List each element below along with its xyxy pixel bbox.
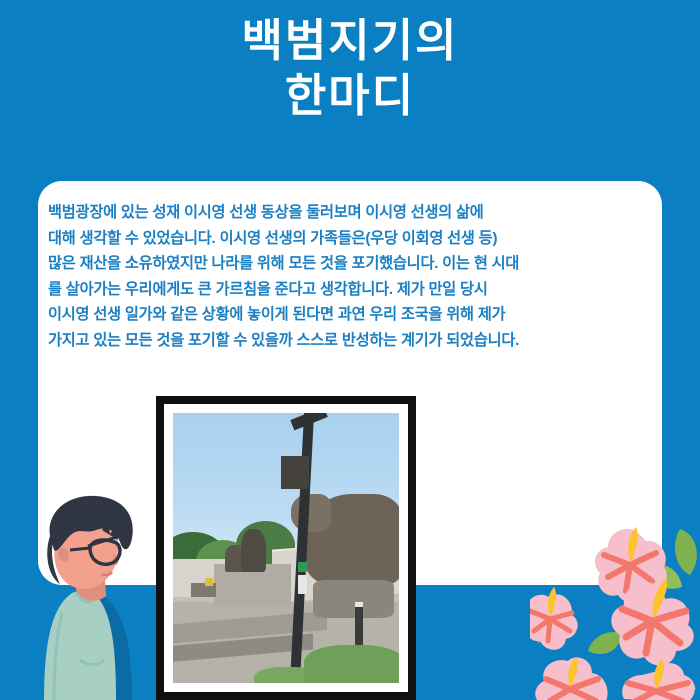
statue-photograph — [173, 413, 399, 683]
flower-blossom — [530, 587, 578, 650]
page-title: 백범지기의 한마디 — [0, 18, 700, 120]
photo-statue-figure — [241, 529, 266, 572]
photo-tiger-head — [291, 494, 332, 532]
photo-mat — [164, 404, 408, 692]
flower-leaf — [675, 529, 697, 575]
photo-speaker-box — [281, 456, 308, 488]
mugunghwa-flowers-illustration — [530, 525, 700, 700]
photo-tiger-base-rock — [313, 580, 394, 618]
flower-blossom — [622, 659, 695, 700]
photo-hedge — [304, 645, 399, 683]
title-line-primary: 백범지기의 — [0, 18, 700, 65]
photo-yellow-object — [205, 578, 213, 586]
photo-post-band — [298, 575, 307, 594]
photo-post-label — [298, 562, 307, 573]
photo-frame — [156, 396, 416, 700]
glasses-temple — [70, 548, 90, 550]
thinking-person-illustration — [28, 492, 178, 700]
title-line-secondary: 한마디 — [0, 73, 700, 120]
flower-blossom — [535, 657, 607, 700]
testimonial-body-text: 백범광장에 있는 성재 이시영 선생 동상을 둘러보며 이시영 선생의 삶에 대… — [48, 200, 648, 354]
social-card-root: 백범지기의 한마디 백범광장에 있는 성재 이시영 선생 동상을 둘러보며 이시… — [0, 0, 700, 700]
flower-leaf — [588, 632, 622, 654]
